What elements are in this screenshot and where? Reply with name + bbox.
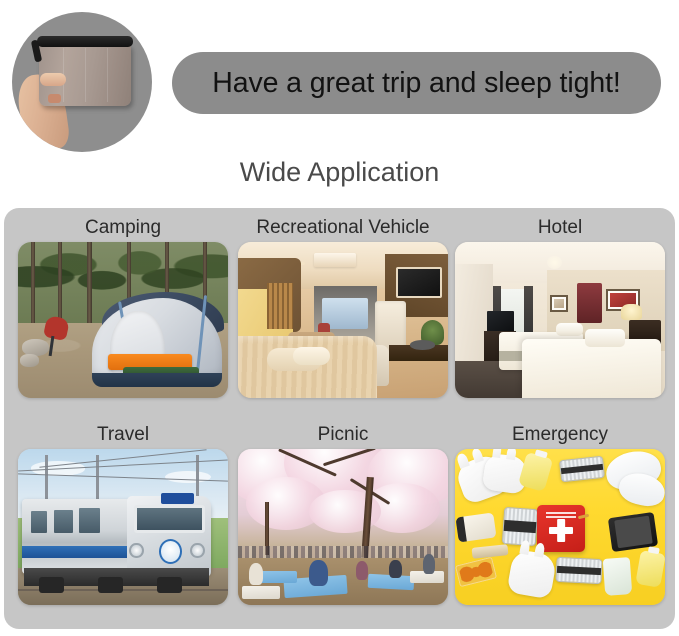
- cell-label: Travel: [18, 421, 228, 449]
- application-grid: Camping: [4, 208, 675, 629]
- tagline-text: Have a great trip and sleep tight!: [212, 67, 621, 100]
- medical-cross-icon: [549, 527, 572, 534]
- finger: [40, 73, 66, 86]
- zipper-pull-icon: [578, 514, 589, 519]
- photo-travel: [18, 449, 228, 605]
- train-scene: [18, 449, 228, 605]
- ointment-tube: [603, 557, 633, 596]
- grid-cell-camping[interactable]: Camping: [18, 214, 228, 410]
- photo-picnic: [238, 449, 448, 605]
- side-window: [31, 511, 48, 533]
- television: [396, 267, 442, 298]
- tree-trunk: [31, 242, 35, 332]
- pill-blister-pack: [455, 557, 497, 587]
- container-band: [456, 516, 468, 542]
- table-lamp: [621, 304, 642, 320]
- picnic-scene: [238, 449, 448, 605]
- device-face: [614, 516, 653, 548]
- grid-cell-picnic[interactable]: Picnic: [238, 421, 448, 617]
- camping-scene: [18, 242, 228, 398]
- headlight: [190, 543, 205, 559]
- ceiling-light: [547, 256, 562, 268]
- can-label: [557, 566, 601, 575]
- section-title: Wide Application: [0, 157, 679, 188]
- thumbnail-detail: [48, 94, 61, 103]
- artwork: [554, 299, 565, 308]
- wood-slats: [267, 283, 292, 330]
- container: [456, 512, 497, 542]
- person-sitting: [309, 560, 328, 587]
- canned-food: [555, 557, 602, 584]
- framed-picture: [550, 295, 569, 312]
- rock: [20, 354, 39, 366]
- pillow: [585, 329, 625, 346]
- canned-food: [559, 456, 605, 482]
- photo-emergency: [455, 449, 665, 605]
- seam: [107, 48, 108, 102]
- grid-cell-recreational-vehicle[interactable]: Recreational Vehicle: [238, 214, 448, 410]
- first-aid-kit-pouch: [537, 505, 585, 552]
- hotel-room-scene: [455, 242, 665, 398]
- cell-label: Hotel: [455, 214, 665, 242]
- photo-hotel: [455, 242, 665, 398]
- headboard-panel: [577, 283, 602, 324]
- emergency-kit-scene: [455, 449, 665, 605]
- pillow: [556, 323, 583, 335]
- rv-interior-scene: [238, 242, 448, 398]
- grid-cell-hotel[interactable]: Hotel: [455, 214, 665, 410]
- header: Have a great trip and sleep tight! Wide …: [0, 0, 679, 208]
- tagline-banner: Have a great trip and sleep tight!: [172, 52, 661, 114]
- white-glove: [506, 548, 557, 599]
- can-label: [561, 464, 603, 474]
- bottle-cap: [534, 449, 547, 459]
- bogie: [39, 577, 64, 593]
- cell-label: Picnic: [238, 421, 448, 449]
- person-sitting: [423, 554, 436, 574]
- photo-camping: [18, 242, 228, 398]
- side-window: [79, 508, 100, 533]
- bogie: [157, 577, 182, 593]
- photo-recreational-vehicle: [238, 242, 448, 398]
- picnic-mat: [242, 586, 280, 598]
- headlight: [129, 543, 144, 559]
- seam: [85, 48, 86, 102]
- person-sitting: [389, 560, 402, 579]
- windshield: [134, 505, 205, 533]
- tree-trunk: [87, 242, 92, 332]
- person-sitting: [356, 561, 369, 580]
- cell-label: Recreational Vehicle: [238, 214, 448, 242]
- wide-application-panel: Camping: [4, 208, 675, 629]
- television: [487, 311, 514, 333]
- product-thumbnail: [12, 12, 152, 152]
- sink: [410, 340, 435, 349]
- kit-label-text: [546, 512, 577, 518]
- cell-label: Emergency: [455, 421, 665, 449]
- can-label: [504, 520, 536, 533]
- pillow: [293, 347, 331, 366]
- rock: [22, 339, 49, 356]
- bottle-cap: [648, 546, 660, 555]
- sanitizer-bottle: [635, 550, 665, 588]
- grid-cell-travel[interactable]: Travel: [18, 421, 228, 617]
- catenary-pole: [96, 455, 99, 502]
- person-sitting: [249, 563, 264, 585]
- bogie: [98, 577, 123, 593]
- roof-vent: [314, 253, 356, 267]
- cell-label: Camping: [18, 214, 228, 242]
- side-window: [54, 510, 73, 533]
- bed-near: [522, 339, 661, 398]
- grid-cell-emergency[interactable]: Emergency: [455, 421, 665, 617]
- canned-food: [502, 507, 538, 547]
- destination-sign: [161, 493, 195, 504]
- zipper-tape: [37, 36, 133, 47]
- tent-floor: [92, 373, 222, 387]
